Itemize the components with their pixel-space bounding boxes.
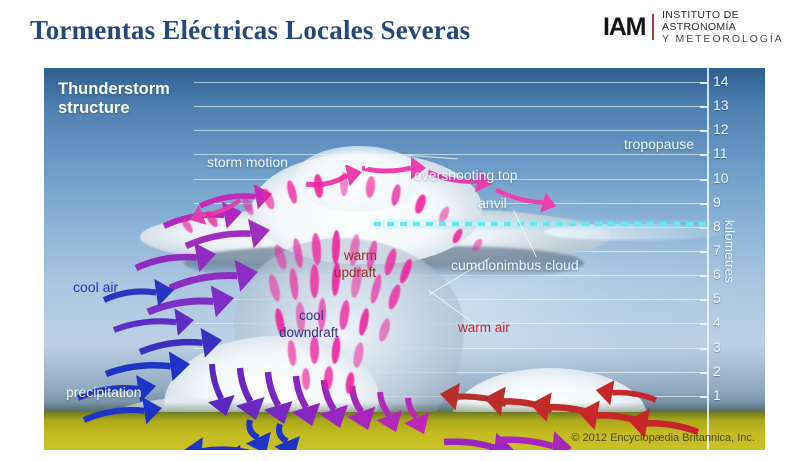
downdraft-arrow-7 xyxy=(208,364,235,416)
diagram-heading: storm motion Thunderstorm structure xyxy=(58,80,170,118)
label-warm-updraft-line-1: warm xyxy=(344,248,377,263)
logo-divider xyxy=(652,14,654,40)
label-tropopause: tropopause xyxy=(624,136,694,152)
gust-front-arrow-2 xyxy=(274,424,300,450)
downdraft-arrow-5 xyxy=(377,392,403,432)
downdraft-arrow-0 xyxy=(236,368,265,420)
inflow-arrow-2 xyxy=(106,351,190,381)
logo-monogram: IAM xyxy=(603,15,645,40)
logo-line-1: INSTITUTO DE ASTRONOMÍA xyxy=(662,9,800,33)
label-precipitation: precipitation xyxy=(66,384,142,400)
airflow-arrows xyxy=(44,68,765,450)
label-warm-air: warm air xyxy=(458,320,510,335)
warm-air-arrow-5 xyxy=(596,380,656,405)
label-overshooting-top: overshooting top xyxy=(414,167,518,183)
downdraft-arrow-3 xyxy=(320,380,348,428)
label-cool-downdraft-line-1: cool xyxy=(299,308,324,323)
updraft-streak xyxy=(310,336,319,364)
label-anvil: anvil xyxy=(478,195,507,211)
label-warm-updraft-line-2: updraft xyxy=(334,265,376,280)
heading-line-2: structure xyxy=(58,99,170,118)
page-title: Tormentas Eléctricas Locales Severas xyxy=(30,15,470,46)
logo-wordmark: INSTITUTO DE ASTRONOMÍA Y METEOROLOGÍA xyxy=(662,9,800,45)
institute-logo: IAM INSTITUTO DE ASTRONOMÍA Y METEOROLOG… xyxy=(603,12,800,42)
tropopause-line xyxy=(374,222,709,226)
label-storm-motion: storm motion xyxy=(207,154,288,170)
updraft-streak xyxy=(340,172,348,196)
heading-line-1: Thunderstorm xyxy=(58,80,170,99)
altitude-axis xyxy=(707,68,709,450)
label-cool-air: cool air xyxy=(73,279,118,295)
axis-caption: kilometres xyxy=(722,220,737,283)
downdraft-arrow-1 xyxy=(264,372,293,424)
downdraft-arrow-6 xyxy=(404,398,429,434)
gust-front-arrow-1 xyxy=(246,420,271,450)
label-cool-downdraft-line-2: downdraft xyxy=(279,325,338,340)
logo-line-2: Y METEOROLOGÍA xyxy=(662,33,800,45)
updraft-streak xyxy=(310,264,319,298)
downdraft-arrow-4 xyxy=(347,386,375,430)
thunderstorm-diagram: 14131211109876543210 kilometres storm mo… xyxy=(44,68,765,450)
storm-motion-arrow-icon xyxy=(329,163,373,165)
copyright-notice: © 2012 Encyclopædia Britannica, Inc. xyxy=(571,432,755,444)
inflow-arrow-6 xyxy=(170,260,258,292)
outflow-arrow-left-1 xyxy=(184,437,254,450)
inflow-arrow-7 xyxy=(136,243,216,272)
label-cumulonimbus-cloud: cumulonimbus cloud xyxy=(451,257,579,273)
inflow-arrow-0 xyxy=(84,397,162,424)
